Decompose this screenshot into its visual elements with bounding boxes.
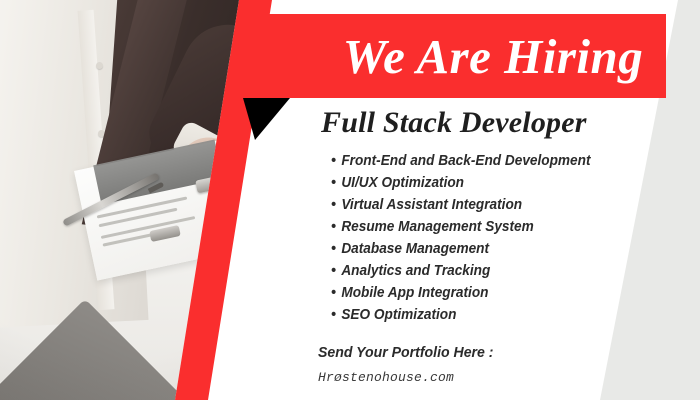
bullet-dot-icon: • <box>331 260 341 281</box>
bullet-dot-icon: • <box>331 172 341 193</box>
responsibility-label: Virtual Assistant Integration <box>341 195 522 216</box>
responsibility-item: •Resume Management System <box>331 216 590 238</box>
responsibility-label: Analytics and Tracking <box>341 261 490 282</box>
bullet-dot-icon: • <box>331 150 341 171</box>
bullet-dot-icon: • <box>331 304 341 325</box>
bullet-dot-icon: • <box>331 194 341 215</box>
responsibility-item: •Front-End and Back-End Development <box>331 150 590 172</box>
responsibility-item: •Virtual Assistant Integration <box>331 194 590 216</box>
responsibility-label: SEO Optimization <box>341 305 456 326</box>
responsibility-item: •SEO Optimization <box>331 304 590 326</box>
responsibility-label: Mobile App Integration <box>341 283 488 304</box>
bullet-dot-icon: • <box>331 238 341 259</box>
job-title: Full Stack Developer <box>321 106 587 140</box>
responsibility-label: Resume Management System <box>341 217 533 238</box>
responsibility-item: •Analytics and Tracking <box>331 260 590 282</box>
responsibility-label: Front-End and Back-End Development <box>341 151 590 172</box>
bullet-dot-icon: • <box>331 282 341 303</box>
responsibility-label: UI/UX Optimization <box>341 173 464 194</box>
responsibility-item: •UI/UX Optimization <box>331 172 590 194</box>
website-url: Hrøstenohouse.com <box>318 370 454 385</box>
responsibility-label: Database Management <box>341 239 489 260</box>
responsibility-item: •Mobile App Integration <box>331 282 590 304</box>
bullet-dot-icon: • <box>331 216 341 237</box>
portfolio-cta-label: Send Your Portfolio Here : <box>318 344 493 361</box>
responsibilities-list: •Front-End and Back-End Development•UI/U… <box>331 150 607 326</box>
hiring-poster: We Are Hiring Full Stack Developer •Fron… <box>0 0 700 400</box>
responsibility-item: •Database Management <box>331 238 590 260</box>
headline-text: We Are Hiring <box>242 14 666 98</box>
headline-banner: We Are Hiring <box>242 14 666 98</box>
